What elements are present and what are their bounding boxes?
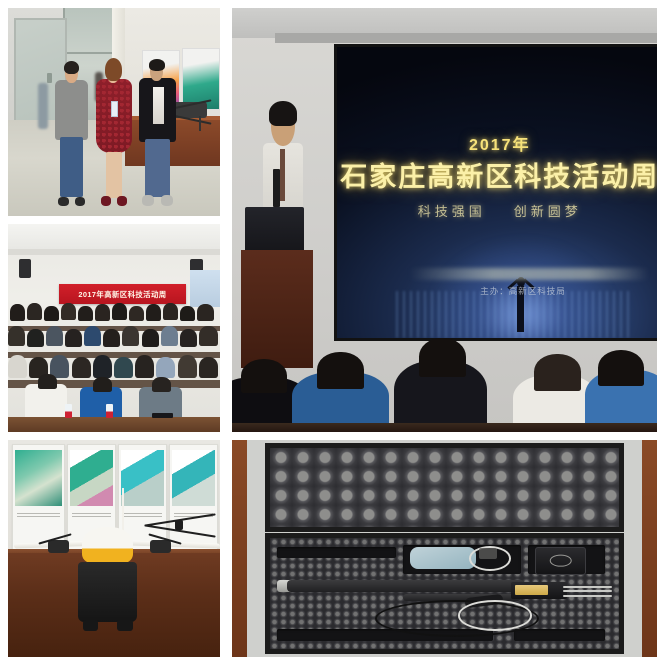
background-person: [38, 83, 49, 129]
drone-stand: [78, 562, 137, 623]
white-cable-loop: [458, 600, 532, 631]
telescoping-pole: [287, 580, 525, 592]
case-lid: [265, 443, 625, 532]
photo-collage: 2017年高新区科技活动周: [0, 0, 665, 665]
antenna-prong: [563, 590, 612, 592]
cut-foam-insert: [270, 538, 620, 648]
drone-rear-rotor: [144, 514, 216, 544]
photo-equipment-case: [232, 440, 657, 657]
hard-case: [247, 440, 642, 657]
accessory-pack: [479, 548, 496, 559]
control-box: [511, 582, 567, 599]
slide-subtitle-left: 科技强国: [404, 201, 500, 220]
drone-fuselage: [82, 527, 133, 564]
audience-bench: [232, 423, 657, 432]
projection-screen-frame: 2017年 石家庄高新区科技活动周 科技强国创新圆梦 主办：高新区科技局: [334, 44, 657, 341]
person-left: [53, 62, 91, 212]
slide-light-streak: [409, 268, 650, 280]
projection-screen: 2017年 石家庄高新区科技活动周 科技强国创新圆梦 主办：高新区科技局: [337, 47, 657, 338]
event-banner-text: 2017年高新区科技活动周: [78, 289, 166, 300]
hall-soffit: [8, 249, 220, 255]
foam-cutout: [514, 629, 605, 641]
photo-vtol-drone-display: [8, 440, 220, 657]
drone-motor-pod: [48, 540, 69, 553]
drone-leg: [199, 116, 201, 131]
egg-crate-foam: [270, 448, 620, 527]
foreground-audience: [232, 318, 657, 432]
audience-rows: [8, 303, 220, 432]
antenna-prong: [563, 586, 612, 588]
person-centre: [95, 58, 133, 212]
slide-year: 2017年: [337, 131, 657, 155]
photo-projector-presentation: 2017年 石家庄高新区科技活动周 科技强国创新圆梦 主办：高新区科技局: [232, 8, 657, 432]
hall-window: [190, 270, 220, 307]
name-badge: [111, 101, 118, 117]
case-base: [265, 533, 625, 653]
wall-speaker: [19, 259, 32, 278]
front-desk: [8, 417, 220, 432]
antenna-prong: [563, 595, 612, 597]
photo-three-people-lobby: [8, 8, 220, 216]
person-right: [137, 60, 177, 212]
water-bottle: [106, 404, 113, 418]
slide-main-title: 石家庄高新区科技活动周: [337, 155, 657, 194]
battery-pack: [535, 547, 586, 574]
foam-cutout: [277, 547, 396, 558]
water-bottle: [65, 404, 72, 418]
microphone: [273, 169, 280, 207]
slide-host-line: 主办：高新区科技局: [480, 285, 566, 297]
notebook: [152, 413, 173, 418]
slide-subtitle: 科技强国创新圆梦: [337, 201, 657, 220]
screen-mount-rail: [275, 33, 658, 42]
slide-subtitle-right: 创新圆梦: [500, 201, 596, 220]
sealed-plastic-bag: [410, 547, 476, 569]
drone-tail-fin: [122, 488, 124, 536]
photo-lecture-hall-audience: 2017年高新区科技活动周: [8, 224, 220, 432]
event-banner: 2017年高新区科技活动周: [59, 284, 186, 304]
